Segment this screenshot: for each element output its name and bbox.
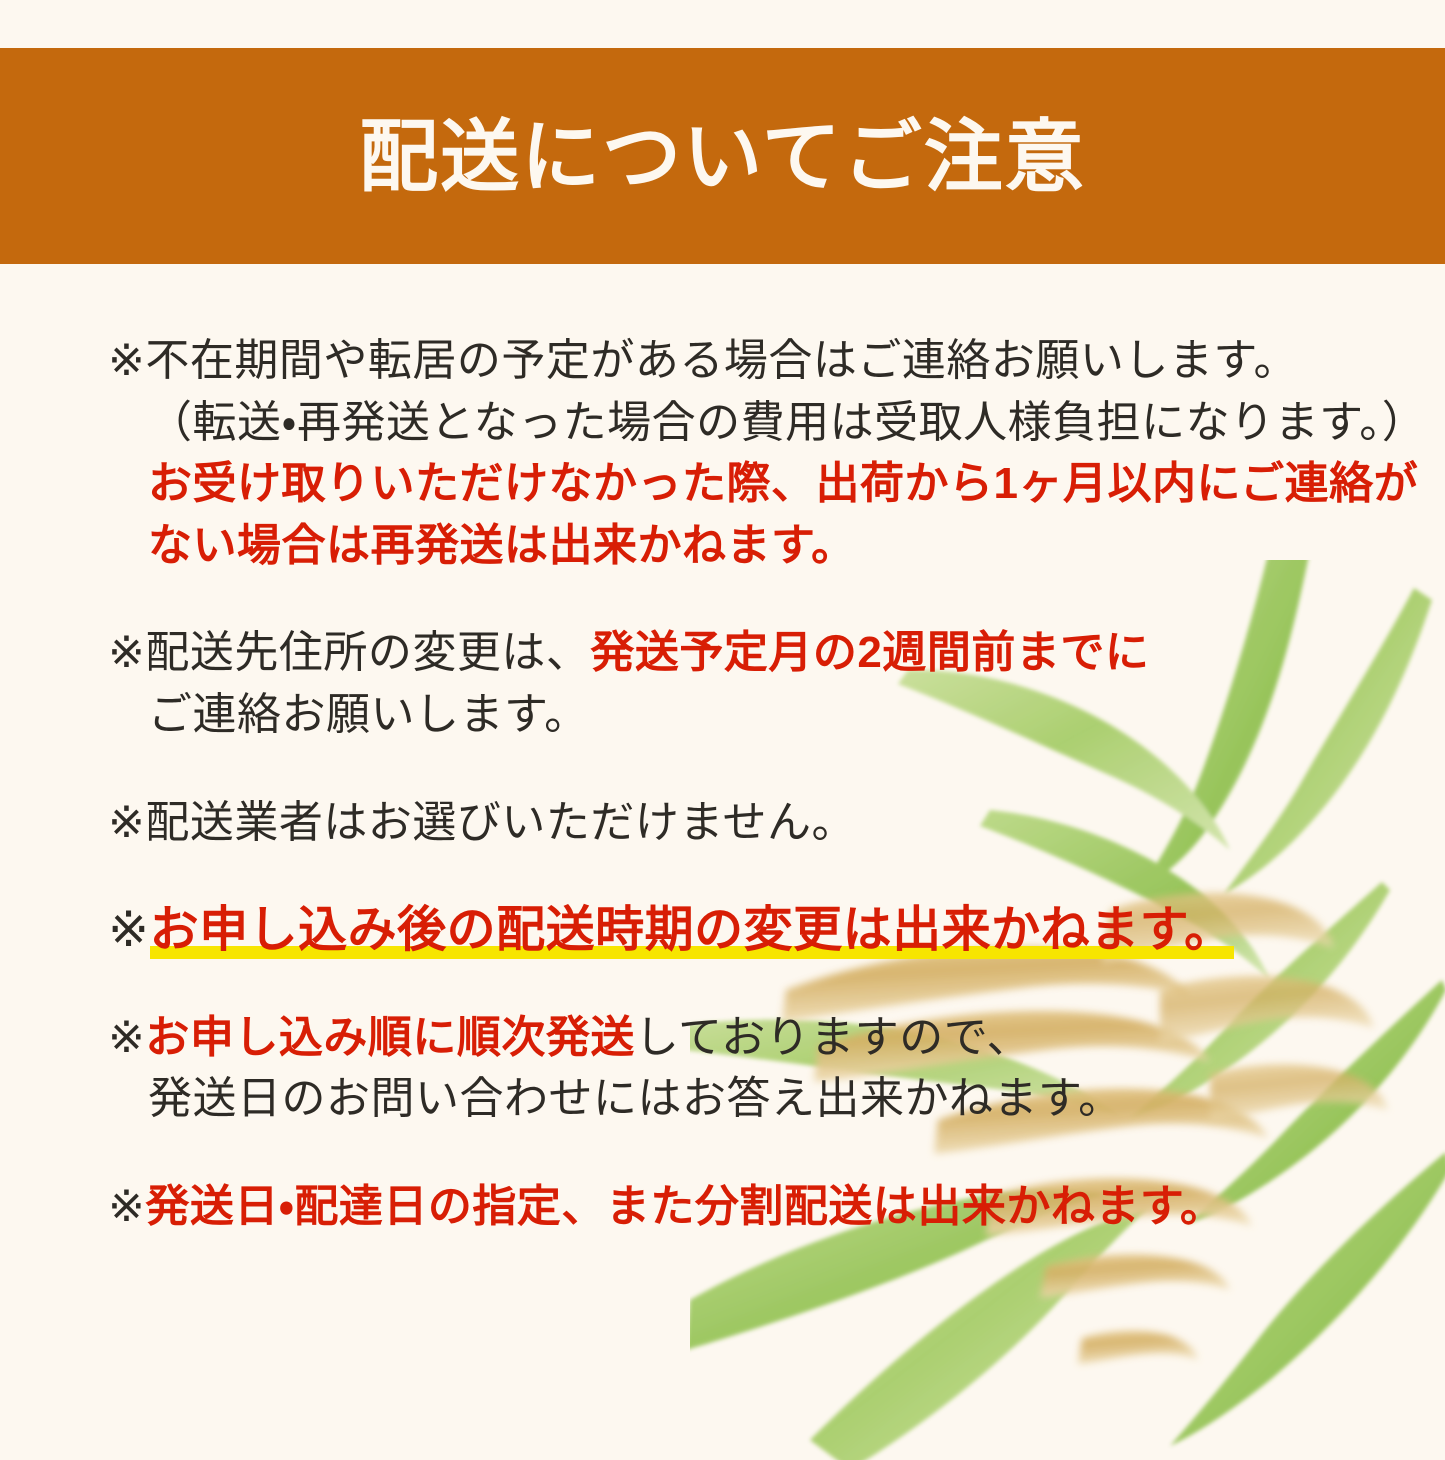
notice-line: ※配送先住所の変更は、発送予定月の2週間前までに xyxy=(108,622,1385,684)
page-header-banner: 配送についてご注意 xyxy=(0,48,1445,264)
notice-line: ※配送業者はお選びいただけません。 xyxy=(108,792,1385,854)
notice-text: 不在期間や転居の予定がある場合はご連絡お願いします。 xyxy=(145,336,1298,385)
notice-text-emphasis: 発送日・配達日の指定、また分割配送は出来かねます。 xyxy=(145,1182,1224,1231)
note-mark-icon: ※ xyxy=(108,903,150,957)
notice-item-no-date-designation: ※発送日・配達日の指定、また分割配送は出来かねます。 xyxy=(108,1176,1385,1238)
notice-line: お受け取りいただけなかった際、出荷から1ヶ月以内にご連絡が xyxy=(108,453,1385,515)
notice-line: ご連絡お願いします。 xyxy=(108,684,1385,746)
notice-text: （転送・再発送となった場合の費用は受取人様負担になります。） xyxy=(148,398,1426,447)
notice-text-emphasis: ない場合は再発送は出来かねます。 xyxy=(148,521,856,570)
notice-line: （転送・再発送となった場合の費用は受取人様負担になります。） xyxy=(108,392,1385,454)
notice-text: しておりますので、 xyxy=(635,1013,1031,1062)
notice-item-absence-or-move: ※不在期間や転居の予定がある場合はご連絡お願いします。 （転送・再発送となった場… xyxy=(108,330,1385,576)
notice-text: ご連絡お願いします。 xyxy=(148,690,589,739)
notice-text-emphasis: お申し込み順に順次発送 xyxy=(145,1013,635,1062)
notice-text: 配送先住所の変更は、 xyxy=(145,628,590,677)
notice-text-emphasis: 発送予定月の2週間前までに xyxy=(590,628,1149,677)
notice-line: ※お申し込み順に順次発送しておりますので、 xyxy=(108,1007,1385,1069)
notice-item-carrier-choice: ※配送業者はお選びいただけません。 xyxy=(108,792,1385,854)
notice-text: 発送日のお問い合わせにはお答え出来かねます。 xyxy=(148,1074,1123,1123)
notice-line: 発送日のお問い合わせにはお答え出来かねます。 xyxy=(108,1068,1385,1130)
notice-item-shipping-order: ※お申し込み順に順次発送しておりますので、 発送日のお問い合わせにはお答え出来か… xyxy=(108,1007,1385,1130)
note-mark-icon: ※ xyxy=(108,1182,145,1231)
note-mark-icon: ※ xyxy=(108,628,145,677)
notice-line-highlighted: ※お申し込み後の配送時期の変更は出来かねます。 xyxy=(108,899,1385,963)
notice-item-no-schedule-change: ※お申し込み後の配送時期の変更は出来かねます。 xyxy=(108,899,1385,963)
notice-line: ない場合は再発送は出来かねます。 xyxy=(108,515,1385,577)
notice-item-address-change: ※配送先住所の変更は、発送予定月の2週間前までに ご連絡お願いします。 xyxy=(108,622,1385,745)
notice-line: ※発送日・配達日の指定、また分割配送は出来かねます。 xyxy=(108,1176,1385,1238)
page-title: 配送についてご注意 xyxy=(359,117,1086,196)
notice-text-highlighted: お申し込み後の配送時期の変更は出来かねます。 xyxy=(150,903,1234,959)
note-mark-icon: ※ xyxy=(108,336,145,385)
note-mark-icon: ※ xyxy=(108,1013,145,1062)
notice-text: 配送業者はお選びいただけません。 xyxy=(145,798,856,847)
notice-text-emphasis: お受け取りいただけなかった際、出荷から1ヶ月以内にご連絡が xyxy=(148,459,1418,508)
notice-line: ※不在期間や転居の予定がある場合はご連絡お願いします。 xyxy=(108,330,1385,392)
notice-list: ※不在期間や転居の予定がある場合はご連絡お願いします。 （転送・再発送となった場… xyxy=(0,264,1445,1284)
note-mark-icon: ※ xyxy=(108,798,145,847)
